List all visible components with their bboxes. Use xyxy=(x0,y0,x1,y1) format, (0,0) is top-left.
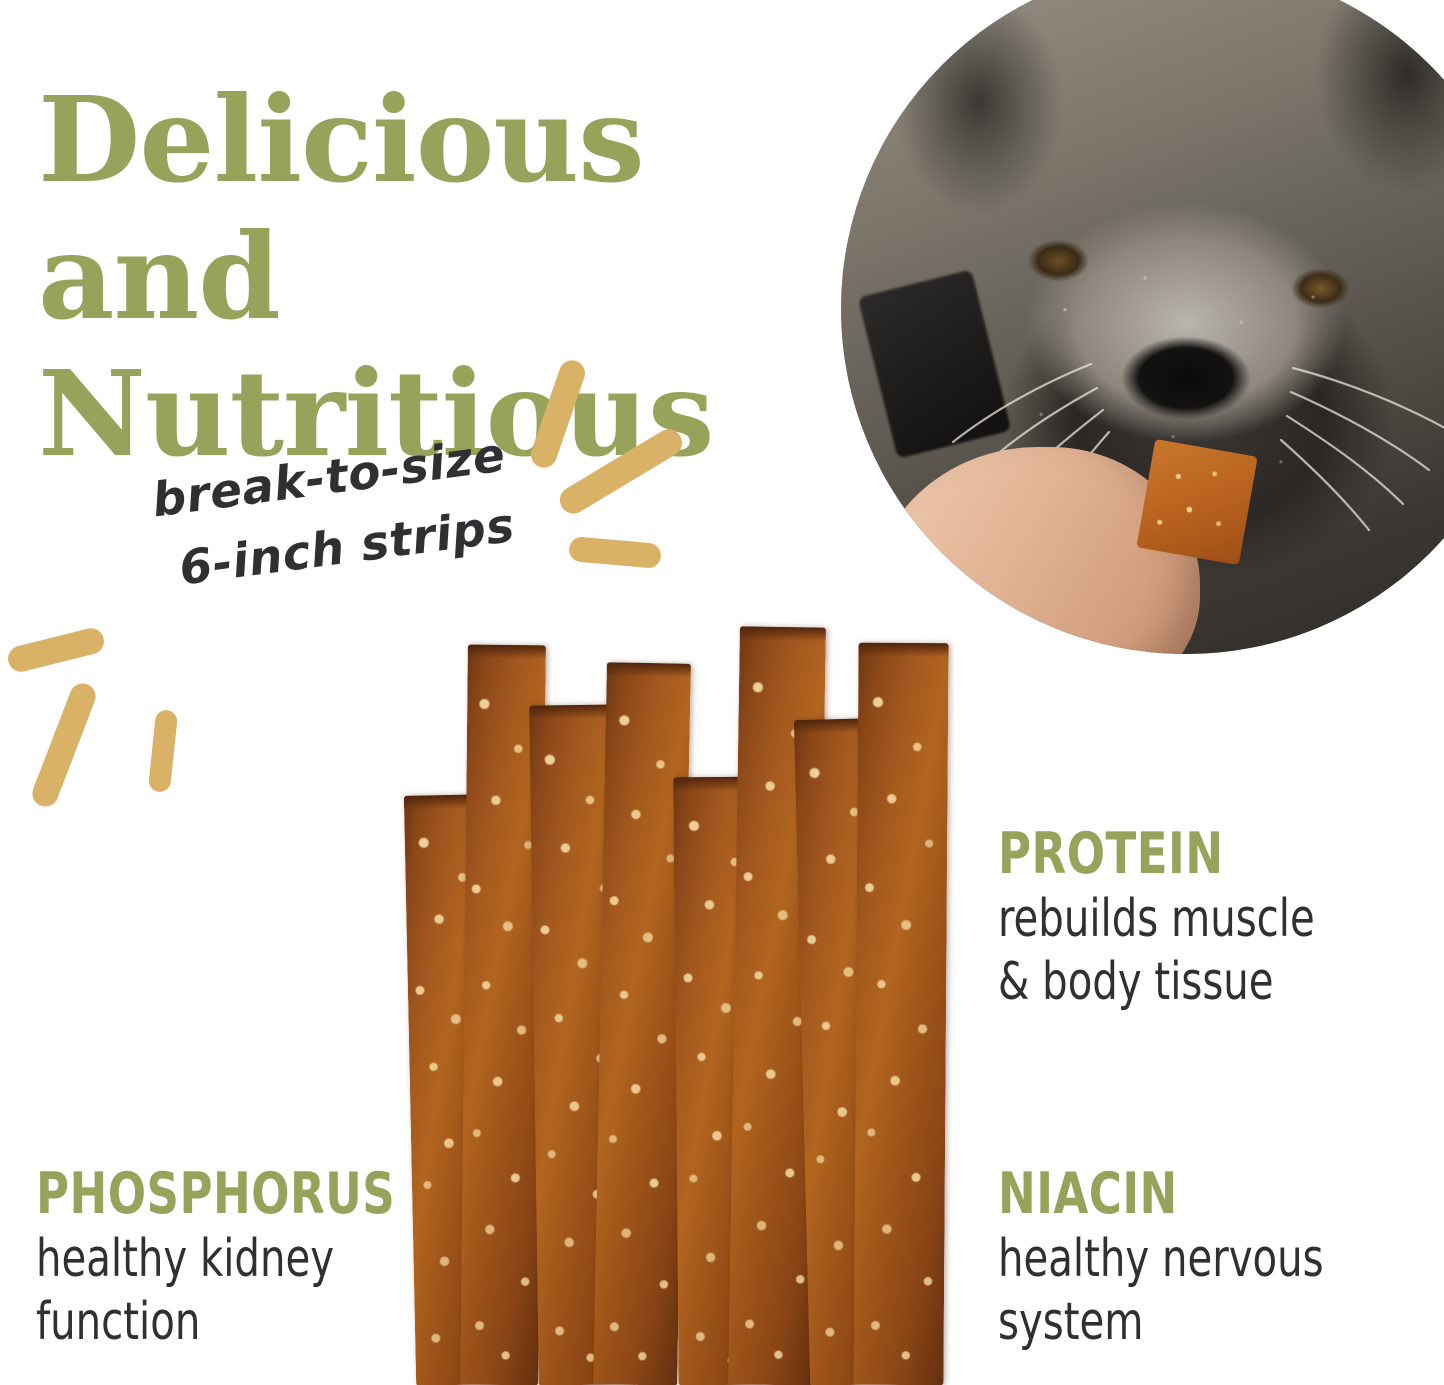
treat-strips-group xyxy=(404,630,980,1385)
gold-stroke-icon xyxy=(5,626,106,675)
treat-strip xyxy=(853,643,948,1385)
nutrient-title-protein: PROTEIN xyxy=(998,824,1322,884)
nutrient-desc-phosphorus-line2: function xyxy=(36,1291,387,1353)
nutrient-desc-niacin: healthy nervous system xyxy=(998,1228,1324,1353)
nutrient-title-phosphorus: PHOSPHORUS xyxy=(36,1164,395,1224)
nutrient-desc-protein: rebuilds muscle & body tissue xyxy=(998,888,1315,1013)
gold-stroke-icon xyxy=(29,680,100,811)
nutrient-desc-phosphorus-line1: healthy kidney xyxy=(36,1228,387,1290)
page-title-line1: Delicious and xyxy=(38,70,644,346)
treat-piece xyxy=(1136,439,1257,566)
nutrient-title-niacin: NIACIN xyxy=(998,1164,1331,1224)
nutrient-block-protein: PROTEIN rebuilds muscle & body tissue xyxy=(998,824,1366,1013)
gold-stroke-icon xyxy=(568,536,662,569)
nutrient-desc-protein-line1: rebuilds muscle xyxy=(998,888,1315,950)
infographic-canvas: Delicious and Nutritious break-to-size 6… xyxy=(0,0,1444,1385)
page-title: Delicious and Nutritious xyxy=(38,72,838,483)
nutrient-desc-niacin-line1: healthy nervous xyxy=(998,1228,1324,1290)
nutrient-block-phosphorus: PHOSPHORUS healthy kidney function xyxy=(36,1164,444,1353)
nutrient-desc-protein-line2: & body tissue xyxy=(998,951,1315,1013)
dog-photo-circle xyxy=(841,0,1444,654)
nutrient-desc-phosphorus: healthy kidney function xyxy=(36,1228,387,1353)
nutrient-desc-niacin-line2: system xyxy=(998,1291,1324,1353)
gold-stroke-icon xyxy=(148,709,178,793)
nutrient-block-niacin: NIACIN healthy nervous system xyxy=(998,1164,1377,1353)
